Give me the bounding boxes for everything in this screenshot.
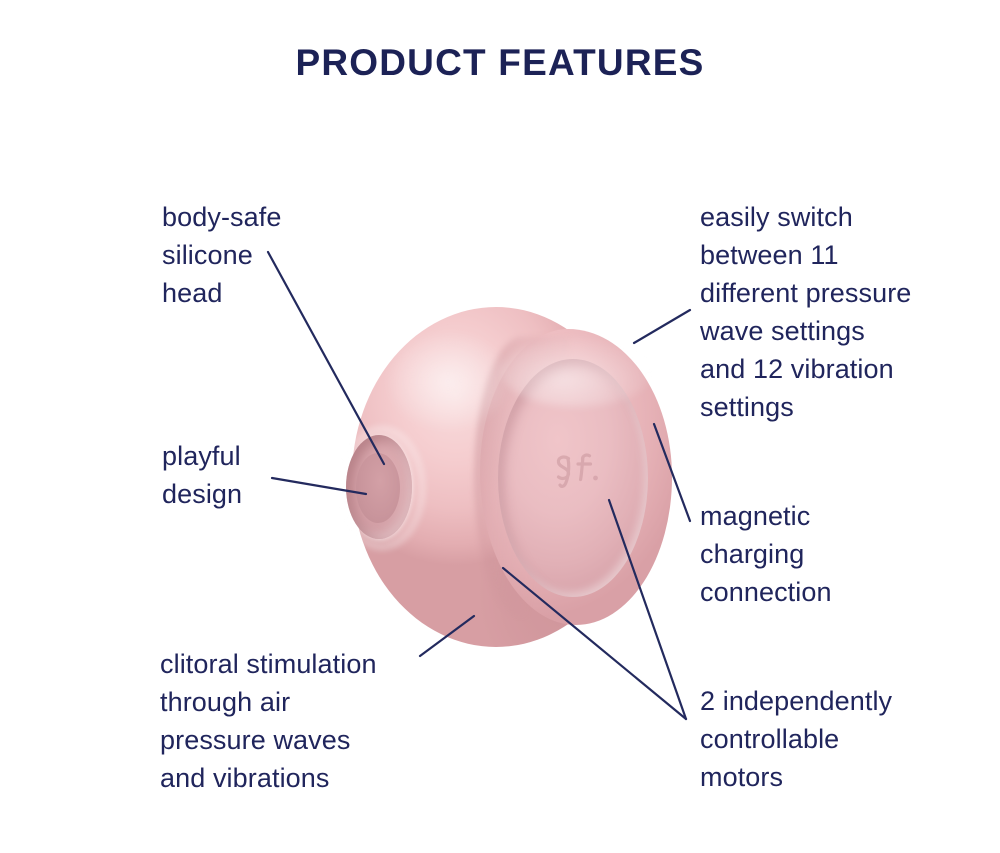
body-highlight [388,333,508,429]
panel-sheen [502,337,652,407]
callout-magnetic-charging-connection: magnetic charging connection [700,497,930,611]
callout-pressure-wave-settings: easily switch between 11 different press… [700,198,960,426]
callout-body-safe-silicone-head: body-safe silicone head [162,198,402,312]
callout-playful-design: playful design [162,437,402,513]
callout-independently-controllable-motors: 2 independently controllable motors [700,682,965,796]
page-title: PRODUCT FEATURES [0,42,1000,84]
callout-clitoral-stimulation: clitoral stimulation through air pressur… [160,645,460,797]
product-features-diagram: PRODUCT FEATURES [0,0,1000,853]
satisfyer-sf-logo-icon [548,447,604,495]
